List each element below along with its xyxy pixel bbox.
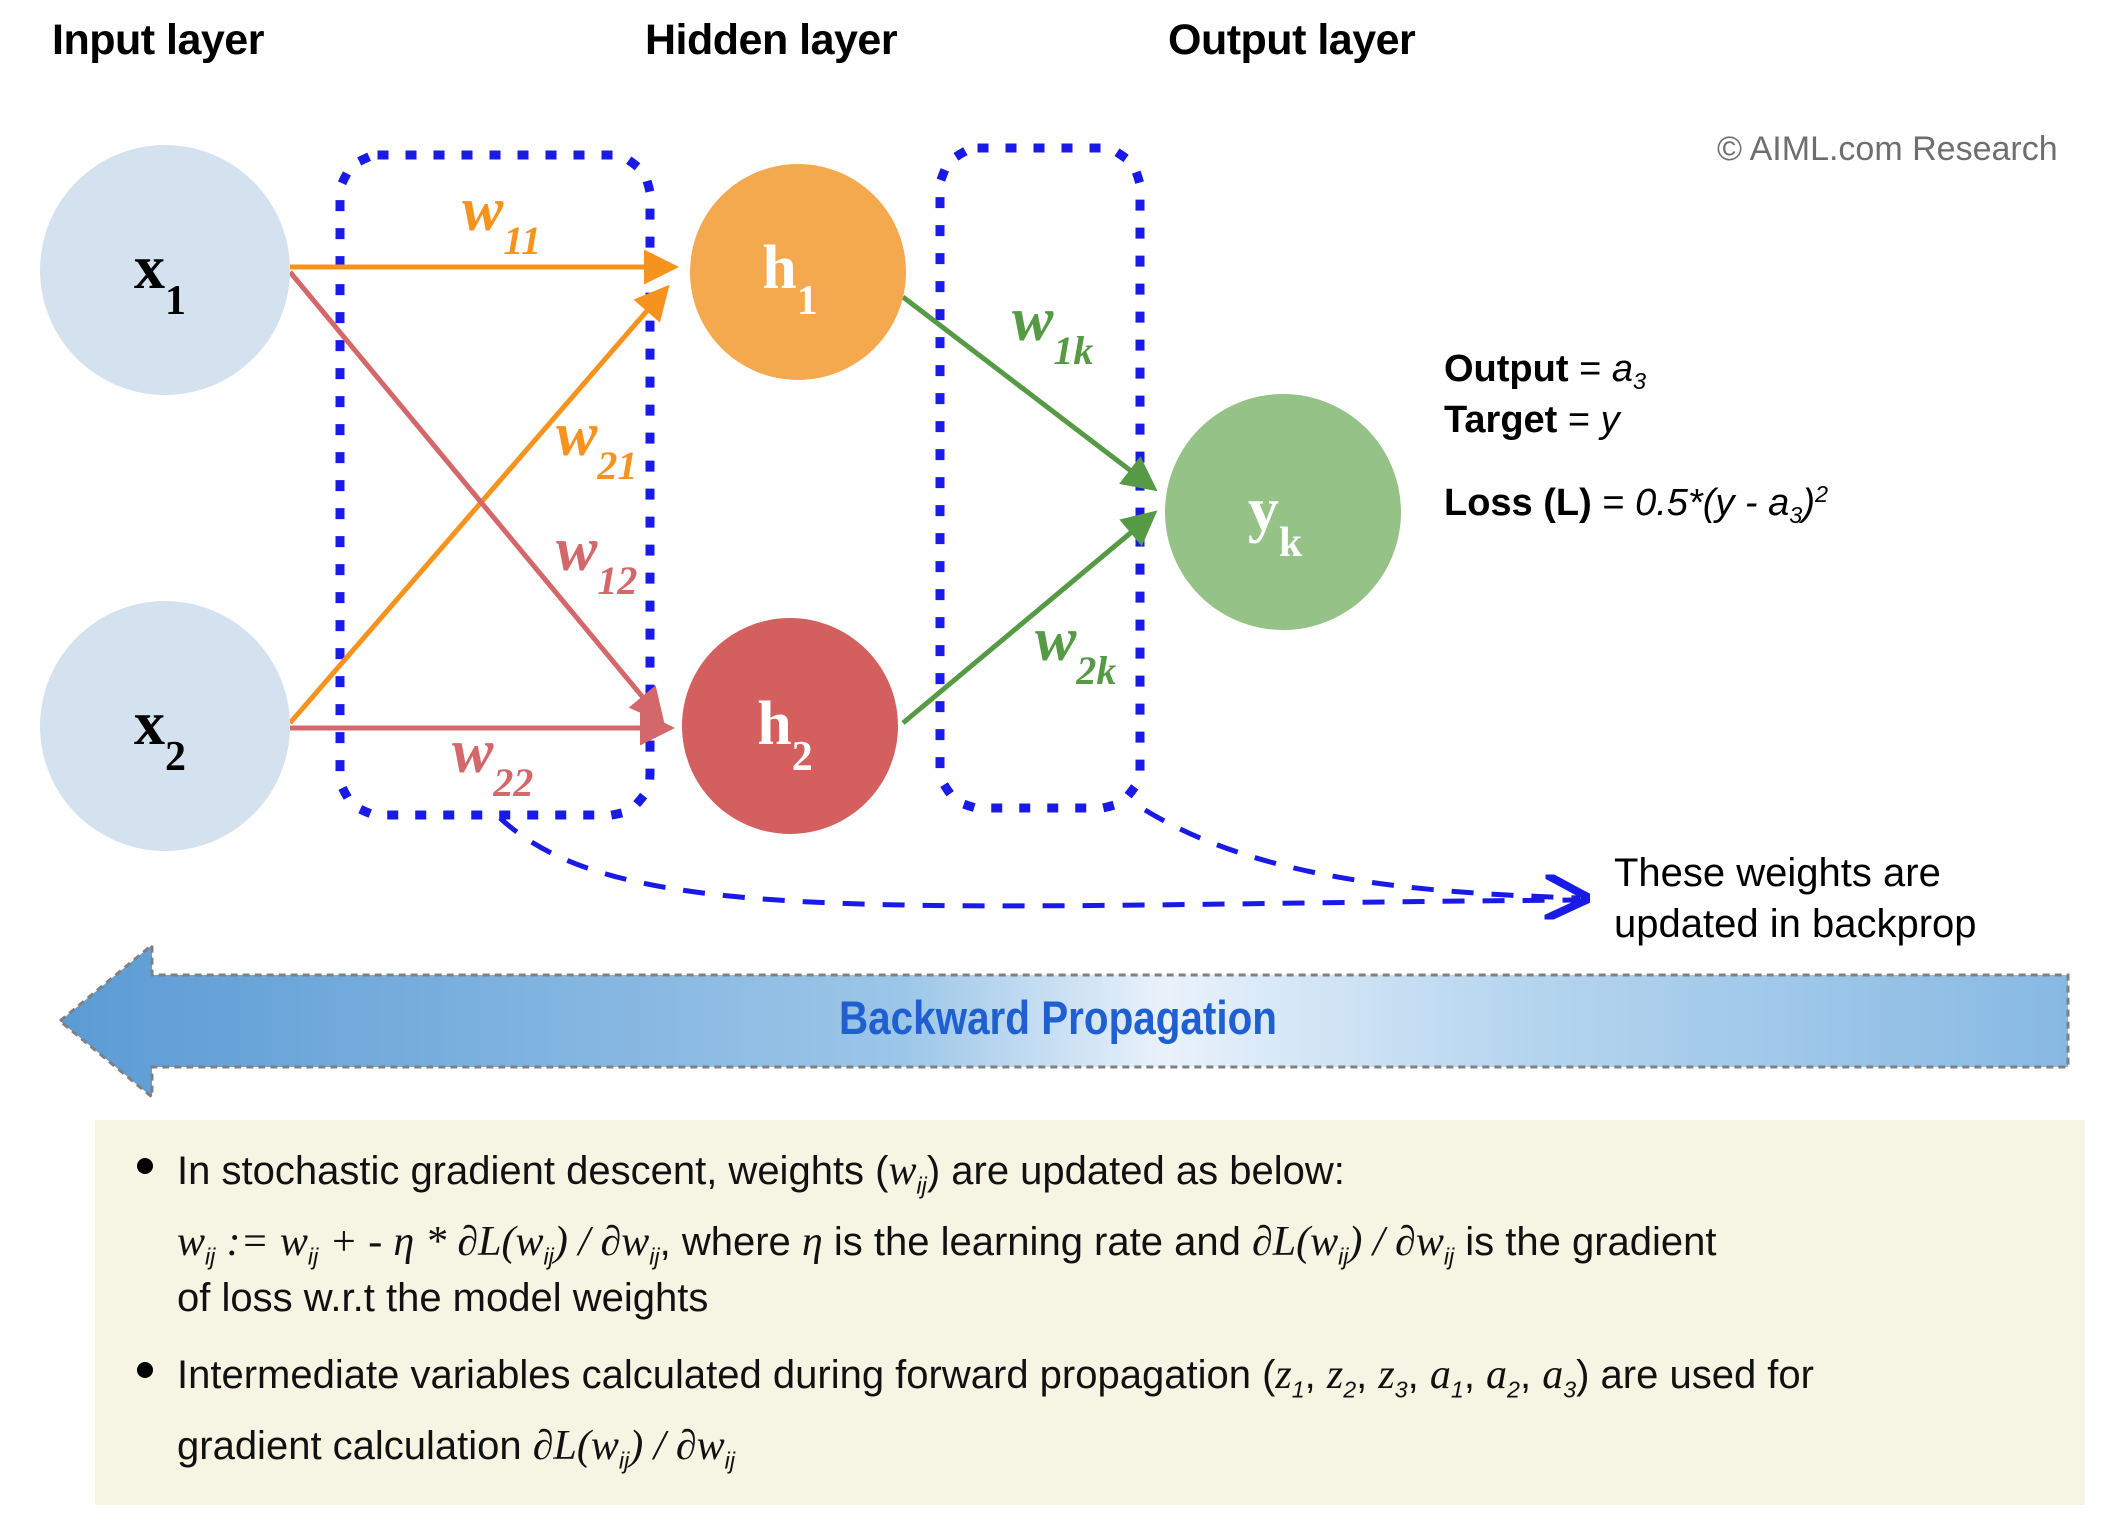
b2-s5: 3 bbox=[1563, 1377, 1576, 1403]
backprop-callout-note: These weights are updated in backprop bbox=[1614, 848, 1977, 950]
node-yk bbox=[1165, 394, 1401, 630]
b1-t-b: is the learning rate and bbox=[834, 1220, 1241, 1264]
b1-l1-a: In stochastic gradient descent, weights … bbox=[177, 1149, 888, 1193]
b1-f-w2: w bbox=[280, 1219, 308, 1265]
b2-l2-s1: ij bbox=[619, 1448, 629, 1474]
note-bullet-2: Intermediate variables calculated during… bbox=[105, 1348, 2116, 1476]
callout-curve-right bbox=[1145, 810, 1580, 898]
b2-s2: 3 bbox=[1395, 1377, 1408, 1403]
weight-label-w22: w22 bbox=[452, 718, 533, 805]
b2-l2-w1: w bbox=[591, 1423, 619, 1469]
b2-l1-b: ) are used for bbox=[1576, 1353, 1814, 1397]
loss-equations: Output = a3 Target = y Loss (L) = 0.5*(y… bbox=[1444, 345, 1828, 530]
b2-s1: 2 bbox=[1343, 1377, 1356, 1403]
weight-label-w11: w11 bbox=[462, 176, 541, 263]
note-bullet-1-line-1: In stochastic gradient descent, weights … bbox=[177, 1144, 2116, 1201]
node-x1 bbox=[40, 145, 290, 395]
b1-f-w4: w bbox=[621, 1219, 649, 1265]
b2-l2-a: gradient calculation bbox=[177, 1424, 522, 1468]
weight-label-w2k: w2k bbox=[1035, 606, 1116, 693]
b1-t-s6: ij bbox=[1444, 1244, 1454, 1270]
bullet-dot-icon bbox=[137, 1158, 153, 1174]
callout-curve-left bbox=[500, 818, 1580, 906]
notes-panel: In stochastic gradient descent, weights … bbox=[95, 1120, 2085, 1505]
b1-t-eta: η bbox=[802, 1219, 823, 1265]
backprop-callout-line2: updated in backprop bbox=[1614, 899, 1977, 950]
b1-t-w6: w bbox=[1416, 1219, 1444, 1265]
b2-v5: a bbox=[1542, 1352, 1563, 1398]
target-equation-label: Target bbox=[1444, 399, 1557, 441]
weight-label-w21: w21 bbox=[556, 401, 637, 488]
target-equation-var: y bbox=[1601, 399, 1620, 441]
b2-v0: z bbox=[1275, 1352, 1291, 1398]
note-bullet-1: In stochastic gradient descent, weights … bbox=[105, 1144, 2116, 1324]
b1-f-close: ) / ∂ bbox=[554, 1219, 621, 1265]
b2-l1-a: Intermediate variables calculated during… bbox=[177, 1353, 1275, 1397]
backprop-callout-line1: These weights are bbox=[1614, 848, 1977, 899]
node-x2 bbox=[40, 601, 290, 851]
b1-f-dL: ∂L( bbox=[457, 1219, 515, 1265]
output-equation: Output = a3 bbox=[1444, 345, 1828, 396]
output-equation-eq: = bbox=[1579, 348, 1601, 390]
node-h1 bbox=[690, 164, 906, 380]
output-equation-sub: 3 bbox=[1633, 368, 1646, 394]
b2-v2: z bbox=[1378, 1352, 1394, 1398]
b1-f-comma: , bbox=[660, 1220, 671, 1264]
loss-equation-expr2: ) bbox=[1802, 482, 1815, 524]
bullet-dot-icon bbox=[137, 1362, 153, 1378]
note-bullet-1-formula: wij := wij + - η * ∂L(wij) / ∂wij, where… bbox=[177, 1215, 2116, 1272]
b2-v1: z bbox=[1327, 1352, 1343, 1398]
b1-f-w1: w bbox=[177, 1219, 205, 1265]
b2-s0: 1 bbox=[1292, 1377, 1305, 1403]
target-equation: Target = y bbox=[1444, 396, 1828, 445]
weight-label-w12: w12 bbox=[556, 516, 637, 603]
b2-s3: 1 bbox=[1451, 1377, 1464, 1403]
b1-t-close: ) / ∂ bbox=[1348, 1219, 1415, 1265]
b1-f-s2: ij bbox=[308, 1244, 318, 1270]
equation-spacer bbox=[1444, 445, 1828, 479]
backward-propagation-label: Backward Propagation bbox=[148, 990, 1968, 1045]
loss-equation-sup: 2 bbox=[1815, 481, 1828, 507]
output-equation-label: Output bbox=[1444, 348, 1569, 390]
b1-f-s4: ij bbox=[649, 1244, 659, 1270]
b1-t-c: is the gradient bbox=[1465, 1220, 1716, 1264]
b1-f-star: * bbox=[425, 1219, 446, 1265]
weight-group-box-hidden-output bbox=[940, 148, 1140, 808]
b1-f-eta: η bbox=[393, 1219, 414, 1265]
b1-t-a: where bbox=[682, 1220, 791, 1264]
diagram-canvas: Input layer Hidden layer Output layer © … bbox=[0, 0, 2116, 1514]
b1-t-dL: ∂L( bbox=[1252, 1219, 1310, 1265]
b2-v4: a bbox=[1486, 1352, 1507, 1398]
output-equation-var: a bbox=[1612, 348, 1633, 390]
b1-f-s1: ij bbox=[205, 1244, 215, 1270]
b1-l1-sub: ij bbox=[917, 1173, 927, 1199]
b2-l2-s2: ij bbox=[725, 1448, 735, 1474]
b1-f-w3: w bbox=[516, 1219, 544, 1265]
b1-l1-w: w bbox=[888, 1148, 916, 1194]
b1-l1-b: ) are updated as below: bbox=[927, 1149, 1345, 1193]
loss-equation: Loss (L) = 0.5*(y - a3)2 bbox=[1444, 479, 1828, 530]
note-bullet-2-line-2: gradient calculation ∂L(wij) / ∂wij bbox=[177, 1419, 2116, 1476]
edge-x1-h2 bbox=[290, 272, 660, 718]
note-bullet-2-line-1: Intermediate variables calculated during… bbox=[177, 1348, 2116, 1405]
weight-label-w1k: w1k bbox=[1012, 286, 1093, 373]
loss-equation-sub: 3 bbox=[1789, 502, 1802, 528]
b2-l2-dL: ∂L( bbox=[533, 1423, 591, 1469]
b1-f-s3: ij bbox=[544, 1244, 554, 1270]
loss-equation-eq: = bbox=[1602, 482, 1624, 524]
loss-equation-label: Loss (L) bbox=[1444, 482, 1592, 524]
b1-f-op: := bbox=[226, 1219, 268, 1265]
b2-s4: 2 bbox=[1507, 1377, 1520, 1403]
target-equation-eq: = bbox=[1568, 399, 1590, 441]
b2-l2-w2: w bbox=[697, 1423, 725, 1469]
b1-f-plus: + - bbox=[329, 1219, 382, 1265]
b1-t-s5: ij bbox=[1338, 1244, 1348, 1270]
note-bullet-1-line-3: of loss w.r.t the model weights bbox=[177, 1272, 2116, 1324]
b2-l2-close: ) / ∂ bbox=[629, 1423, 696, 1469]
b2-v3: a bbox=[1430, 1352, 1451, 1398]
loss-equation-expr1: 0.5*(y - a bbox=[1635, 482, 1789, 524]
b1-t-w5: w bbox=[1310, 1219, 1338, 1265]
